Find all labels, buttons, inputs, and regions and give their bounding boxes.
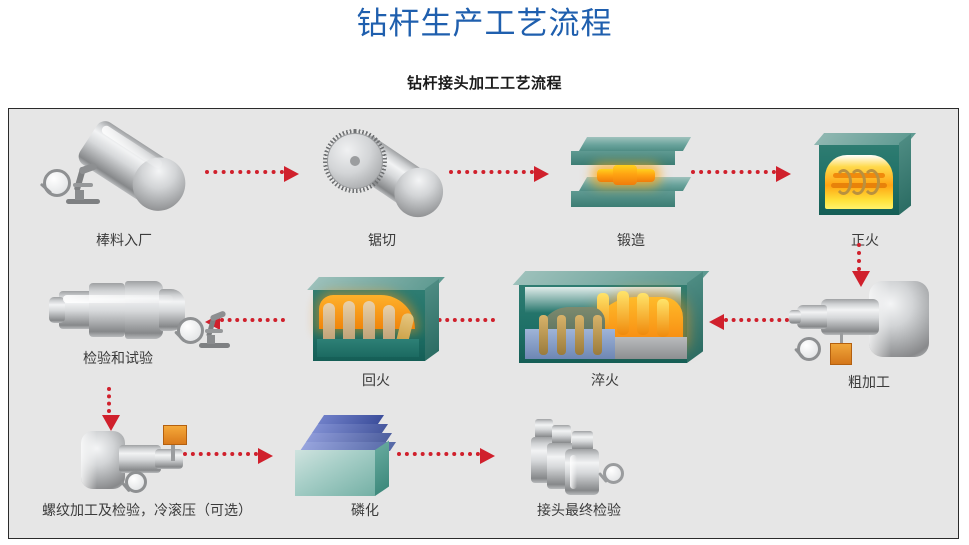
circular-saw-cutting-bar-icon: [297, 121, 467, 229]
flow-step-normalizing[interactable]: 正火: [785, 121, 945, 249]
flow-step-label: 粗加工: [785, 373, 953, 391]
finished-tool-joints-icon: [479, 411, 679, 499]
flow-step-bar-stock-incoming[interactable]: 棒料入厂: [29, 121, 219, 249]
connector-sawing-to-forging: [449, 165, 549, 183]
flow-step-final-joint-inspection[interactable]: 接头最终检验: [479, 411, 679, 519]
connector-rough-machining-to-quenching: [709, 313, 789, 331]
quenching-furnace-icon: [499, 263, 711, 369]
flow-step-inspection-and-testing[interactable]: 检验和试验: [29, 267, 229, 367]
flow-step-label: 锻造: [541, 231, 721, 249]
flow-step-label: 锯切: [297, 231, 467, 249]
page-title: 钻杆生产工艺流程: [0, 2, 969, 46]
flow-step-label: 淬火: [499, 371, 711, 389]
flow-step-label: 回火: [291, 371, 461, 389]
flow-step-thread-machining[interactable]: 螺纹加工及检验，冷滚压（可选）: [19, 419, 275, 519]
saw-blade-icon: [323, 129, 387, 193]
flow-step-quenching[interactable]: 淬火: [499, 263, 711, 389]
cutting-tool: [163, 425, 187, 445]
tempering-furnace-icon: [291, 267, 461, 369]
flow-step-label: 棒料入厂: [29, 231, 219, 249]
flow-step-sawing[interactable]: 锯切: [297, 121, 467, 249]
connector-thread-machining-to-phosphating: [183, 447, 273, 465]
flow-step-forging[interactable]: 锻造: [541, 121, 721, 249]
steel-bar-with-inspection-icon: [29, 121, 219, 229]
flow-step-label: 磷化: [285, 501, 445, 519]
diagram-subtitle: 钻杆接头加工工艺流程: [0, 72, 969, 93]
flow-step-tempering[interactable]: 回火: [291, 267, 461, 389]
flow-step-label: 接头最终检验: [479, 501, 679, 519]
connector-forging-to-normalizing: [691, 165, 791, 183]
flow-step-rough-machining[interactable]: 粗加工: [785, 267, 953, 391]
process-flow-diagram: 棒料入厂 锯切: [8, 108, 959, 539]
normalizing-furnace-icon: [785, 121, 945, 229]
flow-step-phosphating[interactable]: 磷化: [285, 411, 445, 519]
tool-joint-with-inspection-icon: [29, 267, 229, 353]
cutting-tool: [830, 343, 852, 365]
lathe-rough-machining-icon: [785, 267, 953, 371]
connector-bar-stock-to-sawing: [205, 165, 299, 183]
flow-step-label: 螺纹加工及检验，冷滚压（可选）: [19, 501, 275, 519]
